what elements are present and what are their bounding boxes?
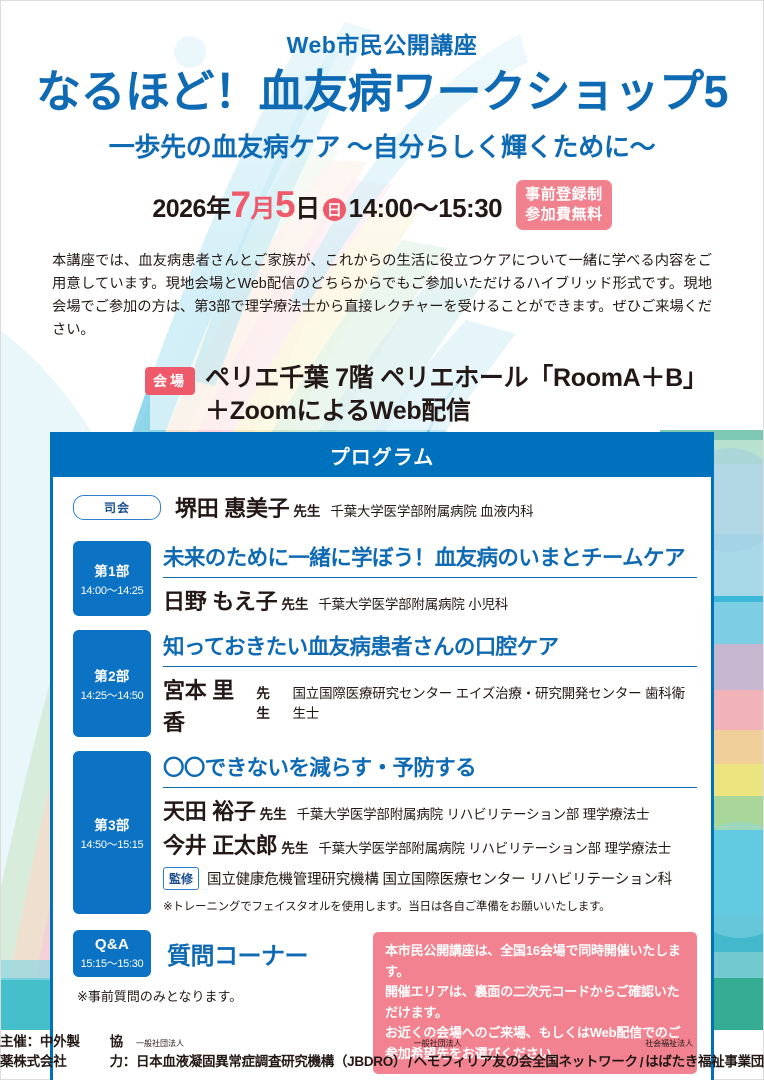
date-month-unit: 月 xyxy=(251,189,276,225)
footer-separator: / xyxy=(406,1055,413,1070)
part-note: ※トレーニングでフェイスタオルを使用します。当日は各自ご準備をお願いいたします。 xyxy=(163,890,697,914)
speaker-suffix: 先生 xyxy=(281,593,308,613)
footer-org: 社会福祉法人 はばたき福祉事業団 xyxy=(645,1050,764,1070)
qa-title: 質問コーナー xyxy=(167,936,308,971)
moderator-badge: 司会 xyxy=(73,495,161,520)
part-title: 〇〇できないを減らす・予防する xyxy=(163,751,697,788)
lead-paragraph: 本講座では、血友病患者さんとご家族が、これからの生活に役立つケアについて一緒に学… xyxy=(52,250,712,343)
poster-root: Web市民公開講座 なるほど！血友病ワークショップ5 一歩先の血友病ケア ～自分… xyxy=(0,0,764,1080)
event-datetime: 2026年 7 月 5 日 日 14:00～15:30 xyxy=(152,186,502,225)
header-kicker: Web市民公開講座 xyxy=(0,26,764,60)
footer-org: 一般社団法人 ヘモフィリア友の会全国ネットワーク xyxy=(414,1050,638,1070)
event-time: 14:00～15:30 xyxy=(349,188,503,225)
footer-cooperation: 協力： 一般社団法人 日本血液凝固異常症調査研究機構（JBDRO） / 一般社団… xyxy=(110,1030,764,1070)
footer-org-kana: 一般社団法人 xyxy=(414,1038,462,1049)
venue-name: ペリエ千葉 7階 ペリエホール「RoomA＋B」 ＋ZoomによるWeb配信 xyxy=(205,362,708,427)
part-badge-title: 第3部 xyxy=(94,814,129,834)
speaker-row: 天田 裕子 先生 千葉大学医学部附属病院 リハビリテーション部 理学療法士 xyxy=(163,788,697,826)
moderator-person: 堺田 惠美子 先生 千葉大学医学部附属病院 血液内科 xyxy=(175,491,533,523)
speaker-row: 宮本 里香 先生 国立国際医療研究センター エイズ治療・研究開発センター 歯科衛… xyxy=(163,667,697,737)
poster-header: Web市民公開講座 なるほど！血友病ワークショップ5 一歩先の血友病ケア ～自分… xyxy=(0,0,764,164)
speaker-affiliation: 国立国際医療研究センター エイズ治療・研究開発センター 歯科衛生士 xyxy=(292,682,697,722)
speaker-name: 日野 もえ子 xyxy=(163,584,277,616)
footer: 主催：中外製薬株式会社 協力： 一般社団法人 日本血液凝固異常症調査研究機構（J… xyxy=(0,1030,764,1070)
page-title: なるほど！血友病ワークショップ5 xyxy=(0,67,764,117)
venue-badge: 会場 xyxy=(145,367,195,395)
registration-badge-line1: 事前登録制 xyxy=(525,185,603,204)
venue-name-line1: ペリエ千葉 7階 ペリエホール「RoomA＋B」 xyxy=(205,362,708,395)
program-heading: プログラム xyxy=(53,435,711,477)
date-day-number: 5 xyxy=(275,186,295,223)
part-badge-title: 第2部 xyxy=(94,665,129,685)
venue-name-line2: ＋ZoomによるWeb配信 xyxy=(205,395,708,428)
part-badge: 第3部 14:50～15:15 xyxy=(73,751,151,914)
qa-badge-time: 15:15～15:30 xyxy=(81,955,144,971)
moderator-affiliation: 千葉大学医学部附属病院 血液内科 xyxy=(330,500,533,520)
footer-host: 主催：中外製薬株式会社 xyxy=(0,1030,88,1070)
speaker-affiliation: 千葉大学医学部附属病院 リハビリテーション部 理学療法士 xyxy=(297,803,650,823)
footer-org-name: はばたき福祉事業団 xyxy=(645,1054,764,1069)
part-badge: 第1部 14:00～14:25 xyxy=(73,541,151,616)
notice-line1: 本市民公開講座は、全国16会場で同時開催いたします。 xyxy=(385,941,685,982)
part-badge: 第2部 14:25～14:50 xyxy=(73,630,151,737)
date-month-number: 7 xyxy=(230,186,250,223)
program-part: 第1部 14:00～14:25 未来のために一緒に学ぼう！血友病のいまとチームケ… xyxy=(67,533,697,622)
qa-badge-title: Q&A xyxy=(95,936,129,953)
program-part: 第2部 14:25～14:50 知っておきたい血友病患者さんの口腔ケア 宮本 里… xyxy=(67,622,697,743)
moderator-row: 司会 堺田 惠美子 先生 千葉大学医学部附属病院 血液内科 xyxy=(67,477,697,533)
moderator-name: 堺田 惠美子 xyxy=(175,491,289,523)
date-row: 2026年 7 月 5 日 日 14:00～15:30 事前登録制 参加費無料 xyxy=(0,180,764,229)
speaker-name: 天田 裕子 xyxy=(163,794,256,826)
footer-org-kana: 社会福祉法人 xyxy=(645,1038,693,1049)
supervisor-row: 監修 国立健康危機管理研究機構 国立国際医療センター リハビリテーション科 xyxy=(163,860,697,890)
part-title: 知っておきたい血友病患者さんの口腔ケア xyxy=(163,630,697,667)
speaker-suffix: 先生 xyxy=(260,803,287,823)
footer-coop-label: 協力： xyxy=(110,1030,136,1070)
speaker-row: 日野 もえ子 先生 千葉大学医学部附属病院 小児科 xyxy=(163,578,697,616)
speaker-suffix: 先生 xyxy=(281,837,308,857)
header-subtitle: 一歩先の血友病ケア ～自分らしく輝くために～ xyxy=(0,127,764,164)
part-badge-time: 14:50～15:15 xyxy=(81,836,144,852)
date-weekday-badge: 日 xyxy=(323,198,346,221)
speaker-name: 今井 正太郎 xyxy=(163,828,277,860)
supervisor-text: 国立健康危機管理研究機構 国立国際医療センター リハビリテーション科 xyxy=(207,868,672,889)
speaker-name: 宮本 里香 xyxy=(163,673,252,737)
date-day-unit: 日 xyxy=(295,189,320,225)
supervisor-badge: 監修 xyxy=(163,867,199,890)
moderator-suffix: 先生 xyxy=(293,500,320,520)
registration-badge-line2: 参加費無料 xyxy=(525,205,603,224)
date-year: 2026年 xyxy=(152,189,230,225)
part-badge-title: 第1部 xyxy=(94,560,129,580)
footer-org-kana: 一般社団法人 xyxy=(136,1038,184,1049)
speaker-affiliation: 千葉大学医学部附属病院 小児科 xyxy=(318,593,508,613)
registration-badge: 事前登録制 参加費無料 xyxy=(516,180,612,229)
qa-badge: Q&A 15:15～15:30 xyxy=(73,930,151,977)
speaker-suffix: 先生 xyxy=(256,682,282,722)
speaker-row: 今井 正太郎 先生 千葉大学医学部附属病院 リハビリテーション部 理学療法士 xyxy=(163,826,697,860)
program-box: プログラム 司会 堺田 惠美子 先生 千葉大学医学部附属病院 血液内科 第1部 … xyxy=(50,432,714,1080)
footer-org-name: ヘモフィリア友の会全国ネットワーク xyxy=(414,1054,638,1069)
speaker-affiliation: 千葉大学医学部附属病院 リハビリテーション部 理学療法士 xyxy=(318,837,671,857)
qa-note: ※事前質問のみとなります。 xyxy=(77,986,373,1005)
part-badge-time: 14:25～14:50 xyxy=(81,687,144,703)
footer-org: 一般社団法人 日本血液凝固異常症調査研究機構（JBDRO） xyxy=(136,1050,406,1070)
footer-org-name: 日本血液凝固異常症調査研究機構（JBDRO） xyxy=(136,1054,406,1069)
part-badge-time: 14:00～14:25 xyxy=(81,582,144,598)
program-part: 第3部 14:50～15:15 〇〇できないを減らす・予防する 天田 裕子 先生… xyxy=(67,743,697,920)
part-title: 未来のために一緒に学ぼう！血友病のいまとチームケア xyxy=(163,541,697,578)
footer-separator: / xyxy=(638,1055,645,1070)
notice-line2: 開催エリアは、裏面の二次元コードからご確認いただけます。 xyxy=(385,982,685,1023)
